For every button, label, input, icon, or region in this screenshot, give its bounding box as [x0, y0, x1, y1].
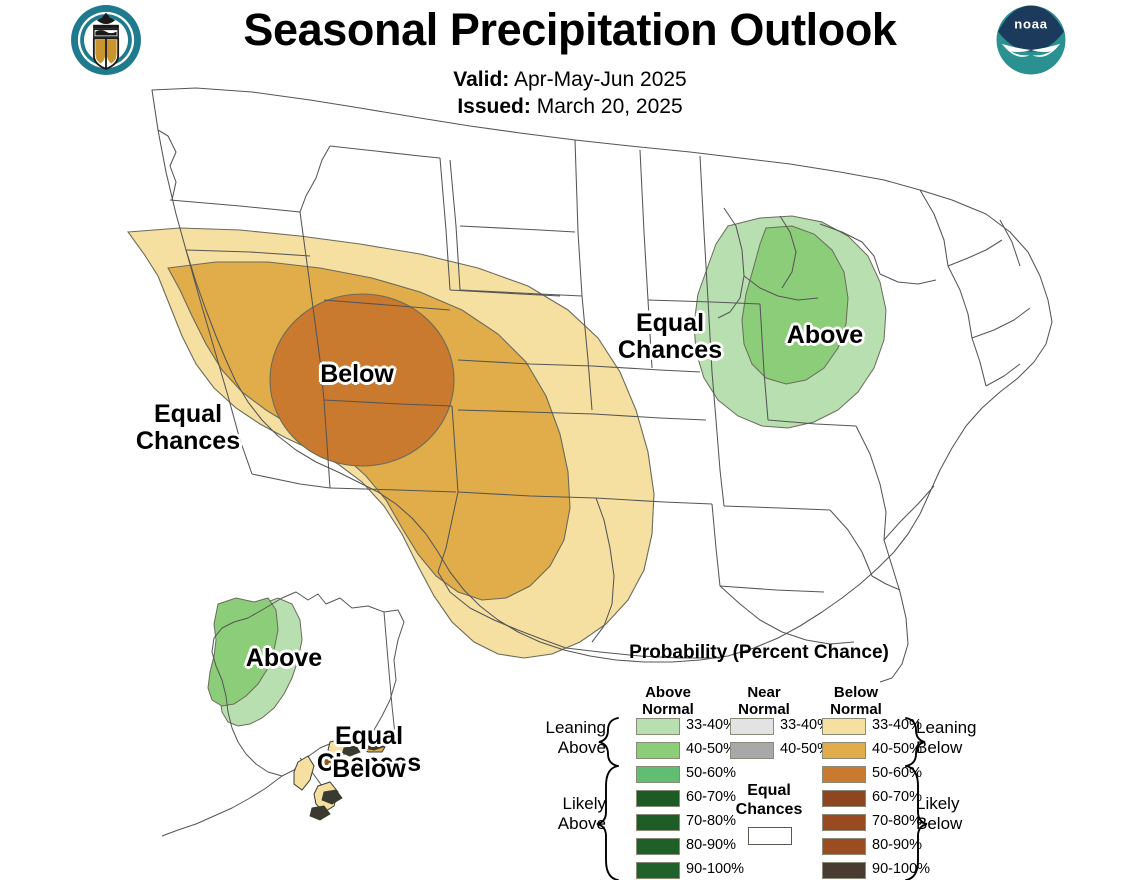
legend-above-range-label: 50-60%	[686, 765, 736, 781]
legend-near-swatch	[730, 718, 774, 735]
legend-column-header-above: Above Normal	[626, 684, 710, 718]
legend-below-range-label: 50-60%	[872, 765, 922, 781]
legend-above-range-label: 90-100%	[686, 861, 744, 877]
map-label-above-east: Above	[765, 322, 885, 349]
legend-below-range-label: 80-90%	[872, 837, 922, 853]
legend-above-range-label: 80-90%	[686, 837, 736, 853]
legend-above-swatch	[636, 766, 680, 783]
legend-below-swatch	[822, 766, 866, 783]
legend-below-swatch	[822, 862, 866, 879]
valid-row: Valid: Apr-May-Jun 2025	[0, 66, 1140, 93]
issued-row: Issued: March 20, 2025	[0, 93, 1140, 120]
legend-below-range-label: 70-80%	[872, 813, 922, 829]
map-label-above-alaska: Above	[224, 645, 344, 672]
valid-value: Apr-May-Jun 2025	[514, 68, 687, 91]
legend-above-range-label: 33-40%	[686, 717, 736, 733]
map-label-below-alaska: Below	[299, 756, 439, 783]
legend-below-swatch	[822, 718, 866, 735]
legend-below-range-label: 33-40%	[872, 717, 922, 733]
legend-equal-chances-swatch	[748, 827, 792, 845]
department-of-commerce-seal	[68, 2, 144, 78]
issued-label: Issued:	[457, 95, 531, 118]
map-label-equal-chances-central: Equal Chances	[596, 310, 744, 363]
legend-below-swatch	[822, 790, 866, 807]
legend-above-swatch	[636, 718, 680, 735]
alaska	[162, 592, 404, 836]
svg-text:noaa: noaa	[1014, 17, 1047, 32]
noaa-logo: noaa	[992, 4, 1070, 76]
legend-below-swatch	[822, 838, 866, 855]
legend-below-range-label: 90-100%	[872, 861, 930, 877]
legend-above-swatch	[636, 838, 680, 855]
legend-above-swatch	[636, 790, 680, 807]
legend-bracket-leaning-above: Leaning Above	[514, 718, 606, 757]
page-title: Seasonal Precipitation Outlook	[0, 4, 1140, 56]
map-label-equal-chances-west: Equal Chances	[118, 401, 258, 454]
valid-label: Valid:	[453, 68, 509, 91]
legend: Probability (Percent Chance) Above Norma…	[508, 642, 1008, 880]
legend-below-swatch	[822, 742, 866, 759]
legend-near-swatch	[730, 742, 774, 759]
map-label-below-west: Below	[292, 361, 422, 388]
legend-column-header-near: Near Normal	[722, 684, 806, 718]
legend-below-range-label: 40-50%	[872, 741, 922, 757]
legend-bracket-leaning-below: Leaning Below	[916, 718, 1012, 757]
legend-below-swatch	[822, 814, 866, 831]
legend-above-swatch	[636, 742, 680, 759]
valid-issued-block: Valid: Apr-May-Jun 2025 Issued: March 20…	[0, 66, 1140, 121]
legend-column-header-below: Below Normal	[814, 684, 898, 718]
issued-value: March 20, 2025	[537, 95, 683, 118]
legend-bracket-likely-below: Likely Below	[916, 794, 1012, 833]
legend-above-swatch	[636, 862, 680, 879]
legend-above-range-label: 40-50%	[686, 741, 736, 757]
legend-above-range-label: 70-80%	[686, 813, 736, 829]
legend-above-swatch	[636, 814, 680, 831]
legend-bracket-likely-above: Likely Above	[514, 794, 606, 833]
legend-title: Probability (Percent Chance)	[594, 642, 924, 664]
legend-below-range-label: 60-70%	[872, 789, 922, 805]
legend-above-range-label: 60-70%	[686, 789, 736, 805]
